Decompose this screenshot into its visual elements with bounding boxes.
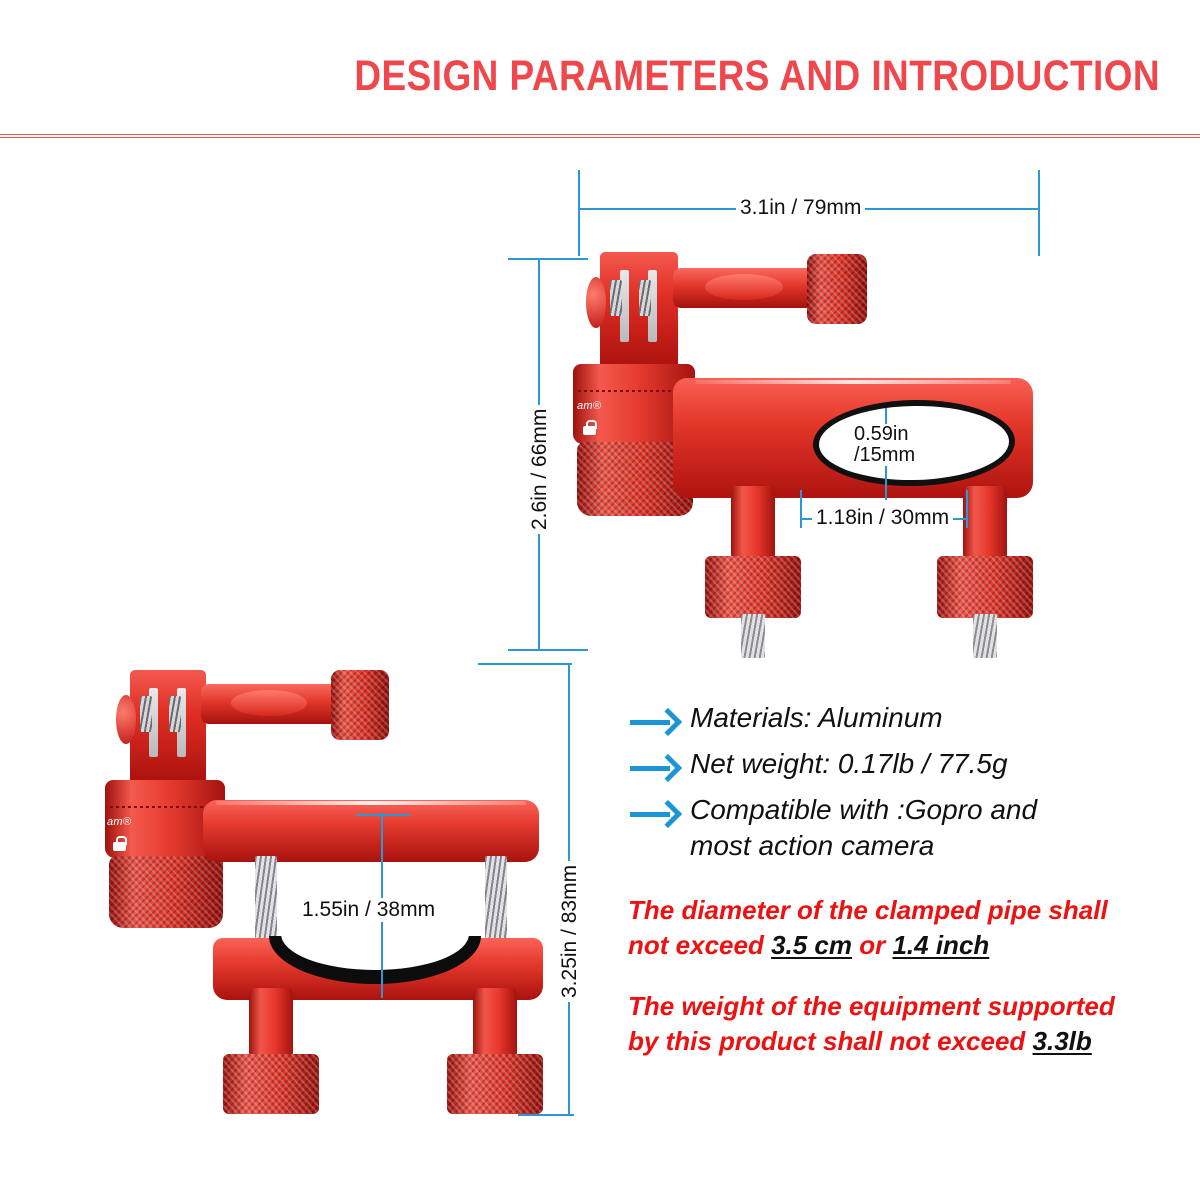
dimension-label-top-height: 2.6in / 66mm	[528, 405, 552, 534]
weight-limit-warning: The weight of the equipment supported by…	[628, 989, 1128, 1059]
spec-text-net-weight: Net weight: 0.17lb / 77.5g	[690, 746, 1008, 782]
warning-value-lb: 3.3lb	[1033, 1026, 1092, 1056]
clamp-bar-slab	[203, 800, 539, 862]
rotation-lock-knob	[109, 856, 223, 928]
spec-text-compatibility: Compatible with :Gopro and most action c…	[690, 792, 1037, 865]
spring-coil-left	[140, 696, 152, 732]
thumbscrew-barrel	[731, 486, 775, 562]
clamp-thumbscrew-left	[223, 988, 319, 1116]
thumb-bolt-waist	[231, 690, 307, 716]
dimension-ext-line-width-right	[1038, 170, 1040, 256]
warning-value-inch: 1.4 inch	[892, 930, 989, 960]
thumbscrew-barrel	[963, 486, 1007, 562]
clamp-thumbscrew-right	[447, 988, 543, 1116]
warning-text-part2: or	[852, 930, 892, 960]
spec-bullet-list: Materials: Aluminum Net weight: 0.17lb /…	[628, 700, 1148, 871]
dimension-tick-clamp-width	[356, 814, 410, 816]
top-product-illustration: am®	[555, 240, 1075, 660]
list-item: Net weight: 0.17lb / 77.5g	[628, 746, 1148, 786]
arrow-right-icon	[628, 798, 690, 832]
thumbscrew-barrel	[249, 988, 293, 1060]
divider-line-bottom	[0, 137, 1200, 138]
header-divider	[0, 134, 1200, 138]
thumbscrew-head	[937, 556, 1033, 618]
thumbscrew-head	[705, 556, 801, 618]
lock-body	[583, 426, 596, 435]
clamp-opening-line1: 0.59in	[854, 424, 915, 445]
lock-body	[113, 842, 126, 851]
dimension-label-screw-spacing: 1.18in / 30mm	[812, 506, 953, 530]
thumbscrew-head	[223, 1054, 319, 1114]
dimension-label-clamp-width: 1.55in / 38mm	[298, 898, 439, 922]
dimension-tick-height-bottom	[508, 649, 588, 651]
divider-line-top	[0, 134, 1200, 135]
clamp-arm-highlight	[695, 380, 1012, 384]
thumbscrew-bolt-end	[741, 614, 765, 658]
arrow-right-icon	[628, 706, 690, 740]
clamp-thumbscrew-left	[705, 486, 801, 656]
fork-pivot-cap	[116, 695, 136, 744]
dimension-label-bottom-height: 3.25in / 83mm	[558, 861, 582, 1002]
pipe-diameter-warning: The diameter of the clamped pipe shall n…	[628, 893, 1128, 963]
thumbscrew-head	[447, 1054, 543, 1114]
list-item: Materials: Aluminum	[628, 700, 1148, 740]
brand-mark: am®	[107, 816, 131, 828]
spring-coil-right	[639, 280, 651, 316]
thumb-bolt-waist	[705, 274, 783, 300]
list-item: Compatible with :Gopro and most action c…	[628, 792, 1148, 865]
compatibility-line2: most action camera	[690, 828, 1037, 864]
spring-coil-right	[169, 696, 181, 732]
warning-value-cm: 3.5 cm	[771, 930, 852, 960]
dimension-ext-opening-bottom	[885, 462, 887, 500]
lock-icon	[113, 836, 126, 851]
spring-coil-left	[610, 280, 622, 316]
thumb-bolt-knob	[807, 254, 867, 324]
lock-icon	[583, 420, 596, 435]
bottom-product-illustration: am®	[95, 648, 555, 1118]
dimension-ext-spacing-right	[966, 490, 968, 528]
dimension-ext-line-width-left	[578, 170, 580, 256]
thumbscrew-bolt-end	[973, 614, 997, 658]
dimension-ext-spacing-left	[800, 490, 802, 528]
clamp-bar-highlight	[216, 801, 525, 805]
arrow-head	[654, 708, 682, 736]
dimension-tick-height-top	[508, 258, 588, 260]
brand-mark: am®	[577, 400, 601, 412]
dimension-tick-bottom-height-bottom	[518, 1114, 574, 1116]
dimension-label-top-width: 3.1in / 79mm	[736, 196, 865, 220]
fork-pivot-cap	[586, 277, 606, 328]
compatibility-line1: Compatible with :Gopro and	[690, 794, 1037, 825]
thumbscrew-barrel	[473, 988, 517, 1060]
spec-text-materials: Materials: Aluminum	[690, 700, 943, 736]
infographic-page: DESIGN PARAMETERS AND INTRODUCTION am®	[0, 0, 1200, 1200]
dimension-label-clamp-opening: 0.59in /15mm	[852, 424, 917, 466]
arrow-right-icon	[628, 752, 690, 786]
page-title: DESIGN PARAMETERS AND INTRODUCTION	[162, 52, 1160, 101]
arrow-head	[654, 754, 682, 782]
dimension-tick-bottom-height-top	[478, 663, 572, 665]
arrow-head	[654, 800, 682, 828]
clamp-opening-line2: /15mm	[854, 445, 915, 466]
thumb-bolt-knob	[331, 670, 389, 740]
clamp-bar-upper	[203, 800, 539, 862]
